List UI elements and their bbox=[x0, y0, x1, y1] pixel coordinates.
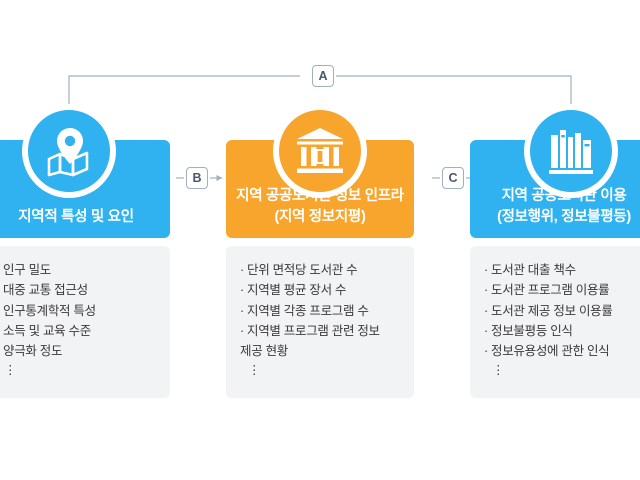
list-item: · 도서관 대출 책수 bbox=[484, 260, 640, 280]
arrow-label-b: B bbox=[186, 167, 208, 189]
arrow-label-c: C bbox=[442, 167, 464, 189]
books-shelf-icon bbox=[546, 126, 596, 176]
list-item: · 양극화 정도 bbox=[0, 341, 160, 361]
column-body-right: · 도서관 대출 책수 · 도서관 프로그램 이용률 · 도서관 제공 정보 이… bbox=[470, 246, 640, 398]
column-body-center: · 단위 면적당 도서관 수 · 지역별 평균 장서 수 · 지역별 각종 프로… bbox=[226, 246, 414, 398]
list-item: · 인구 밀도 bbox=[0, 260, 160, 280]
list-item: · 도서관 프로그램 이용률 bbox=[484, 280, 640, 300]
badge-center bbox=[273, 104, 367, 198]
list-item: · 대중 교통 접근성 bbox=[0, 280, 160, 300]
list-item: · 지역별 프로그램 관련 정보 제공 현황 bbox=[240, 321, 404, 362]
list-item: · 정보불평등 인식 bbox=[484, 321, 640, 341]
list-ellipsis: ⋮ bbox=[240, 363, 404, 378]
arrow-label-a: A bbox=[312, 65, 334, 87]
column-title-left: 지역적 특성 및 요인 bbox=[18, 207, 134, 228]
list-item: · 지역별 각종 프로그램 수 bbox=[240, 301, 404, 321]
list-item: · 도서관 제공 정보 이용률 bbox=[484, 301, 640, 321]
diagram-canvas: 지역적 특성 및 요인 · 인구 밀도 · 대중 교통 접근성 · 인구통계학적… bbox=[0, 0, 640, 480]
list-ellipsis: ⋮ bbox=[0, 363, 160, 378]
map-pin-icon bbox=[43, 125, 95, 177]
badge-right bbox=[524, 104, 618, 198]
list-item: · 정보유용성에 관한 인식 bbox=[484, 341, 640, 361]
list-item: · 소득 및 교육 수준 bbox=[0, 321, 160, 341]
column-body-left: · 인구 밀도 · 대중 교통 접근성 · 인구통계학적 특성 · 소득 및 교… bbox=[0, 246, 170, 398]
library-building-icon bbox=[293, 125, 347, 177]
list-item: · 지역별 평균 장서 수 bbox=[240, 280, 404, 300]
list-item: · 단위 면적당 도서관 수 bbox=[240, 260, 404, 280]
list-item: · 인구통계학적 특성 bbox=[0, 301, 160, 321]
badge-left bbox=[22, 104, 116, 198]
list-ellipsis: ⋮ bbox=[484, 363, 640, 378]
